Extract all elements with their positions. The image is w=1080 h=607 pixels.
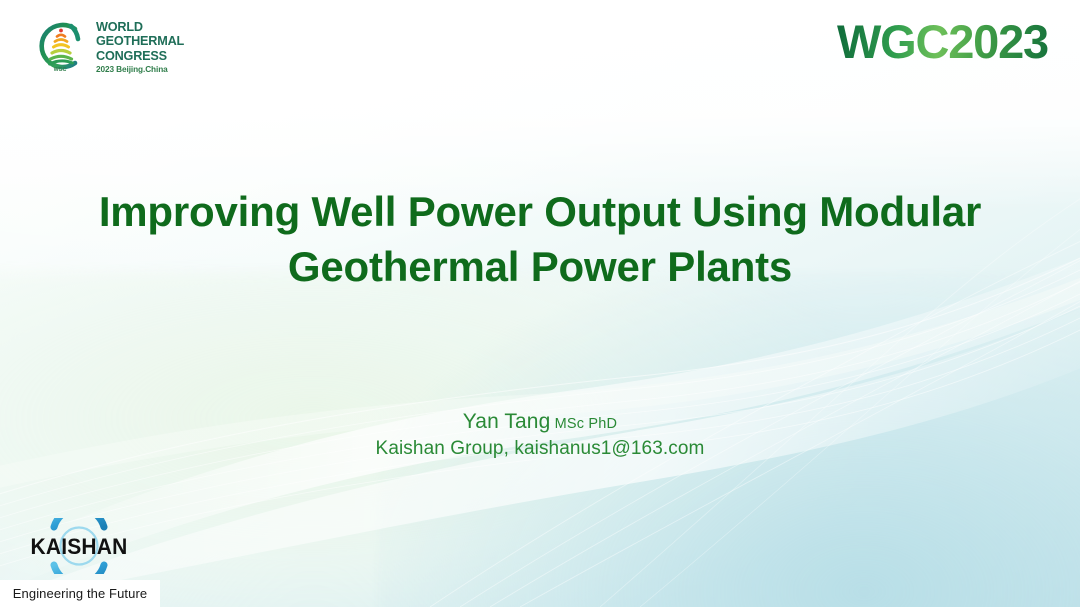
wgc-emblem-icon: WGC: [31, 17, 89, 75]
page-title-line-1: Improving Well Power Output Using Modula…: [26, 185, 1054, 240]
wgc-line-congress: CONGRESS: [96, 49, 184, 62]
svg-text:WGC: WGC: [54, 67, 67, 73]
event-mark: WGC2023: [837, 18, 1048, 65]
kaishan-mark-icon: KAISHAN: [14, 518, 144, 574]
author-block: Yan Tang MSc PhD Kaishan Group, kaishanu…: [0, 409, 1080, 461]
svg-text:KAISHAN: KAISHAN: [30, 535, 127, 560]
page-title-line-2: Geothermal Power Plants: [26, 240, 1054, 295]
wgc-wordmark: WORLD GEOTHERMAL CONGRESS 2023 Beijing.C…: [96, 19, 188, 74]
author-affiliation: Kaishan Group, kaishanus1@163.com: [0, 437, 1080, 462]
title-block: Improving Well Power Output Using Modula…: [0, 185, 1080, 294]
slide-canvas: WGC WORLD GEOTHERMAL CONGRESS 2023 Beiji…: [0, 0, 1080, 607]
author-line: Yan Tang MSc PhD: [0, 409, 1080, 435]
company-tagline-text: Engineering the Future: [13, 586, 147, 601]
author-name: Yan Tang: [463, 410, 551, 433]
wgc-line-world: WORLD: [96, 20, 184, 33]
wgc-line-geothermal: GEOTHERMAL: [96, 34, 184, 47]
company-tagline: Engineering the Future: [0, 580, 160, 607]
author-degrees: MSc PhD: [550, 416, 617, 432]
company-logo: KAISHAN Engineering the Future: [0, 515, 170, 607]
wgc-subtitle: 2023 Beijing.China: [96, 65, 184, 74]
slide-header: WGC WORLD GEOTHERMAL CONGRESS 2023 Beiji…: [0, 0, 1080, 96]
wgc-congress-logo: WGC WORLD GEOTHERMAL CONGRESS 2023 Beiji…: [31, 17, 188, 75]
